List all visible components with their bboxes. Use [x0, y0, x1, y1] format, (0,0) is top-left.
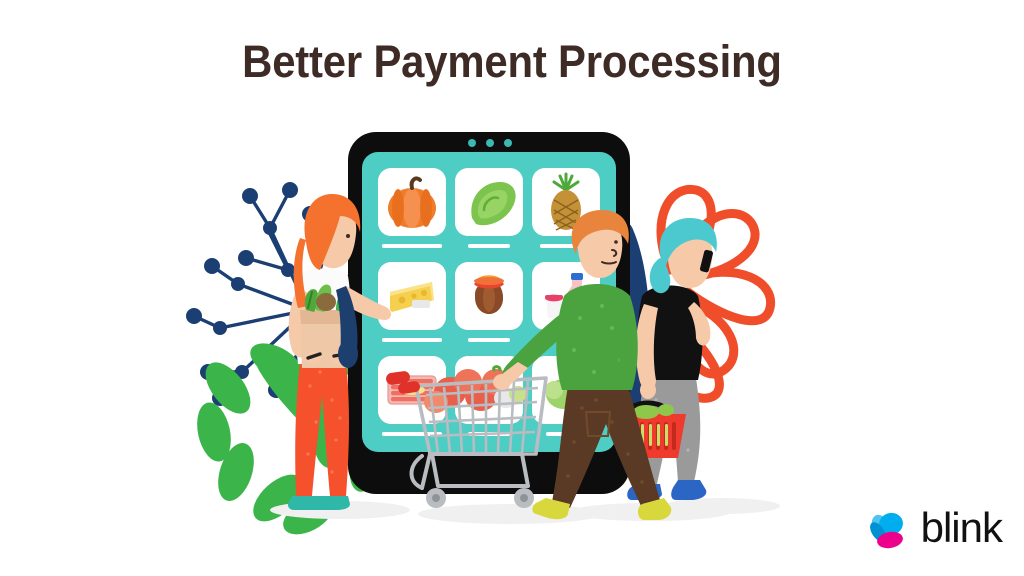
- brand-wordmark: blink: [921, 507, 1002, 549]
- jam-jar-icon: [474, 277, 504, 314]
- slide-canvas: Better Payment Processing: [0, 0, 1024, 576]
- tablet-camera-dots-icon: [468, 139, 512, 147]
- page-title: Better Payment Processing: [36, 36, 988, 88]
- butterfly-logo-mark-icon: [865, 506, 913, 554]
- brand-logo[interactable]: blink: [865, 506, 1002, 554]
- illustration-container: [150, 110, 810, 550]
